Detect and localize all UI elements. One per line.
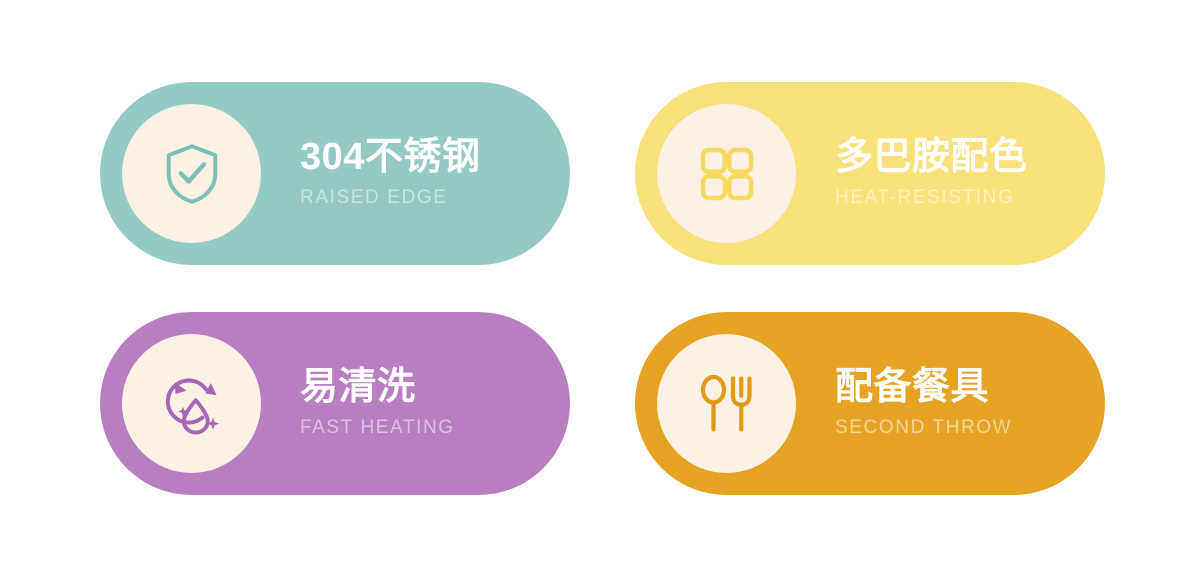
feature-card-dopamine-colors[interactable]: 多巴胺配色 HEAT-RESISTING [635, 82, 1105, 265]
card-title: 配备餐具 [835, 366, 989, 409]
icon-badge [122, 334, 261, 473]
card-text-block: 多巴胺配色 HEAT-RESISTING [835, 82, 1028, 265]
card-title: 304不锈钢 [300, 136, 480, 179]
card-title: 多巴胺配色 [835, 136, 1028, 179]
water-drop-refresh-icon [156, 368, 228, 440]
shield-check-icon [156, 138, 228, 210]
icon-badge [122, 104, 261, 243]
card-subtitle: RAISED EDGE [300, 186, 447, 211]
card-text-block: 304不锈钢 RAISED EDGE [300, 82, 480, 265]
icon-badge [657, 334, 796, 473]
feature-card-easy-to-clean[interactable]: 易清洗 FAST HEATING [100, 312, 570, 495]
spoon-fork-icon [691, 368, 763, 440]
icon-badge [657, 104, 796, 243]
feature-card-304-stainless-steel[interactable]: 304不锈钢 RAISED EDGE [100, 82, 570, 265]
card-subtitle: SECOND THROW [835, 416, 1012, 441]
feature-card-utensils-included[interactable]: 配备餐具 SECOND THROW [635, 312, 1105, 495]
feature-cards-board: 304不锈钢 RAISED EDGE 多巴胺配色 HEAT-RESISTING [0, 0, 1200, 576]
grid-four-squares-icon [691, 138, 763, 210]
card-subtitle: FAST HEATING [300, 416, 455, 441]
card-text-block: 易清洗 FAST HEATING [300, 312, 455, 495]
card-text-block: 配备餐具 SECOND THROW [835, 312, 1012, 495]
card-subtitle: HEAT-RESISTING [835, 186, 1014, 211]
card-title: 易清洗 [300, 366, 416, 409]
